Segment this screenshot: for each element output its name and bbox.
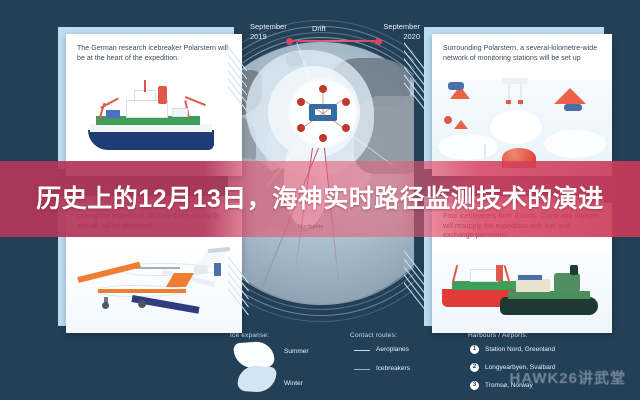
card-monitoring-text: Surrounding Polarstern, a several-kilome… [443, 44, 601, 63]
legend-ice-heading: Ice expanse: [230, 332, 336, 339]
tent-right [554, 88, 586, 104]
legend-ice-expanse: Ice expanse: Summer Winter [230, 332, 336, 339]
ship-funnel [158, 86, 167, 104]
icebreaker-green-deck [508, 291, 590, 299]
legend-routes-heading: Contact routes: [350, 332, 460, 339]
legend-summer-label: Summer [284, 348, 309, 355]
jet-window-line [136, 267, 180, 269]
ship-hull [88, 130, 214, 150]
tent-lower-left [454, 120, 468, 129]
ship-container-white [172, 108, 188, 117]
snow-mound-left [438, 134, 498, 160]
turboprop-wheel-main [138, 300, 146, 308]
harbour-badge-1: 1 [470, 345, 479, 354]
ice-expanse-icons [230, 342, 286, 396]
legend-aeroplanes-label: Aeroplanes [376, 346, 409, 353]
harbour-badge-3: 3 [470, 381, 479, 390]
ship-crane-aft-arm [185, 96, 206, 106]
timeline-start-label: September 2019 [250, 22, 287, 42]
ship-hull-stripe [90, 124, 212, 132]
marker-dot-left [444, 116, 452, 124]
station-dot-ne [342, 98, 350, 106]
icebreaker-green-container [518, 275, 542, 280]
ship-container-blue [106, 110, 120, 118]
turboprop-wheel-front [102, 302, 109, 309]
icebreaker-green-funnel [570, 265, 578, 275]
ship-mast [144, 80, 146, 92]
resupply-scene [432, 253, 612, 333]
equipment-box-right [564, 104, 582, 111]
hatch-decor-right [404, 36, 428, 116]
route-line-aeroplanes [354, 350, 370, 351]
legend-harbours-heading: Harbours / Airports: [468, 332, 638, 339]
hatch-decor-left [228, 40, 250, 112]
turboprop-livery-stripe [98, 289, 186, 293]
icebreaker-green [498, 267, 602, 321]
equipment-box-left [448, 82, 464, 90]
snow-mound-right [544, 130, 606, 158]
timeline-center-label: Drift [312, 24, 326, 33]
antenna-pole [484, 144, 486, 160]
polarstern-illustration [74, 80, 234, 166]
turboprop-tail-fin [166, 273, 194, 287]
flag-a [506, 100, 511, 104]
icebreaker-green-hull [500, 297, 598, 315]
legend: Ice expanse: Summer Winter Contact route… [228, 330, 640, 400]
icebreaker-green-cargo [516, 279, 550, 292]
ice-winter-icon [237, 365, 277, 394]
hub-spoke-n [323, 90, 324, 114]
aircraft-scene [66, 247, 242, 333]
card-monitoring-network: Surrounding Polarstern, a several-kilome… [432, 34, 612, 176]
snow-mound-center [490, 110, 542, 144]
station-dot-se [342, 124, 350, 132]
poster-root: Northpole September 2019 Drift September… [0, 0, 640, 400]
drift-timeline: September 2019 Drift September 2020 [250, 22, 420, 52]
station-dot-sw [297, 124, 305, 132]
mast-crossbar [502, 78, 528, 84]
card-polarstern-text: The German research icebreaker Polarster… [77, 44, 229, 63]
station-dot-s [319, 134, 327, 142]
watermark: HAWK26讲武堂 [509, 367, 626, 388]
legend-harbours: Harbours / Airports: 1 Station Nord, Gre… [468, 332, 638, 339]
page-title: 历史上的12月13日，海神实时路径监测技术的演进 [0, 161, 640, 237]
legend-contact-routes: Contact routes: Aeroplanes Icebreakers [350, 332, 460, 339]
route-line-icebreakers [354, 369, 370, 370]
harbour-label-1: Station Nord, Greenland [485, 346, 555, 353]
legend-icebreakers-label: Icebreakers [376, 365, 410, 372]
harbour-badge-2: 2 [470, 363, 479, 372]
station-dot-nw [297, 98, 305, 106]
legend-winter-label: Winter [284, 380, 303, 387]
flag-b [518, 100, 523, 104]
hatch-decor-right-lower [404, 244, 428, 314]
timeline-bar [290, 40, 378, 42]
drift-hub [290, 80, 356, 146]
card-polarstern: The German research icebreaker Polarster… [66, 34, 242, 176]
turboprop-aircraft [74, 271, 224, 317]
station-dot-n [319, 85, 327, 93]
icebreaker-red-bridge [470, 269, 498, 282]
icebreaker-green-superstructure [554, 273, 580, 292]
hatch-decor-left-lower [228, 250, 252, 320]
